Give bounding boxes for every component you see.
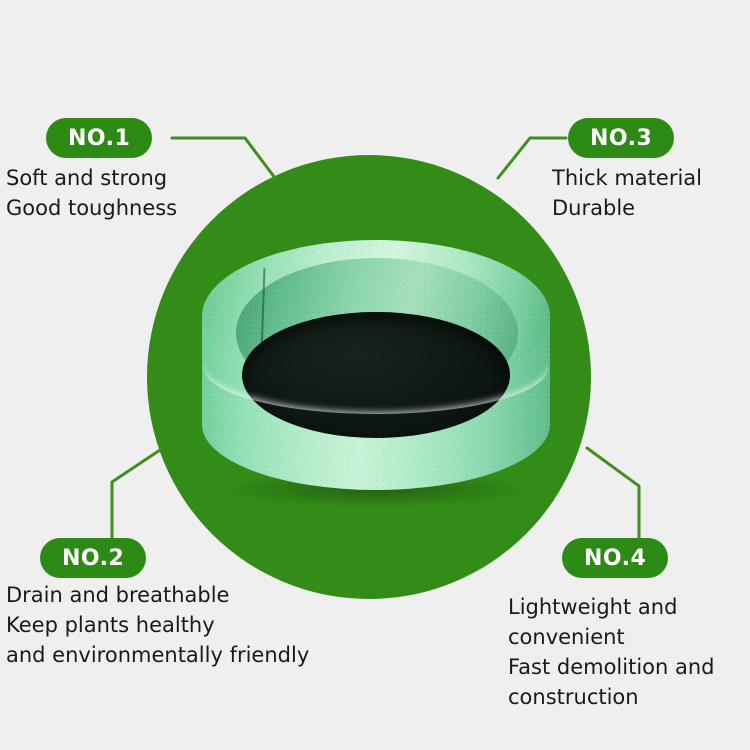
feature-4-line-3: Fast demolition and — [508, 652, 715, 682]
feature-3-line-2: Durable — [552, 193, 702, 223]
feature-badge-4: NO.4 — [562, 538, 668, 578]
feature-2-line-1: Drain and breathable — [6, 580, 309, 610]
feature-badge-1: NO.1 — [46, 118, 152, 158]
feature-4-line-4: construction — [508, 682, 715, 712]
bag-interior — [242, 312, 510, 438]
feature-text-1: Soft and strong Good toughness — [6, 163, 177, 223]
feature-text-3: Thick material Durable — [552, 163, 702, 223]
connector-line-1 — [172, 138, 275, 178]
feature-4-line-1: Lightweight and — [508, 592, 715, 622]
connector-line-4 — [587, 448, 639, 540]
product-image — [190, 238, 562, 528]
connector-line-2 — [112, 450, 160, 540]
product-infographic: NO.1 Soft and strong Good toughness NO.3… — [0, 0, 750, 750]
feature-4-line-2: convenient — [508, 622, 715, 652]
feature-badge-2: NO.2 — [40, 538, 146, 578]
feature-text-2: Drain and breathable Keep plants healthy… — [6, 580, 309, 670]
feature-1-line-1: Soft and strong — [6, 163, 177, 193]
feature-3-line-1: Thick material — [552, 163, 702, 193]
feature-2-line-2: Keep plants healthy — [6, 610, 309, 640]
feature-badge-3: NO.3 — [568, 118, 674, 158]
feature-1-line-2: Good toughness — [6, 193, 177, 223]
feature-text-4: Lightweight and convenient Fast demoliti… — [508, 592, 715, 712]
feature-2-line-3: and environmentally friendly — [6, 640, 309, 670]
